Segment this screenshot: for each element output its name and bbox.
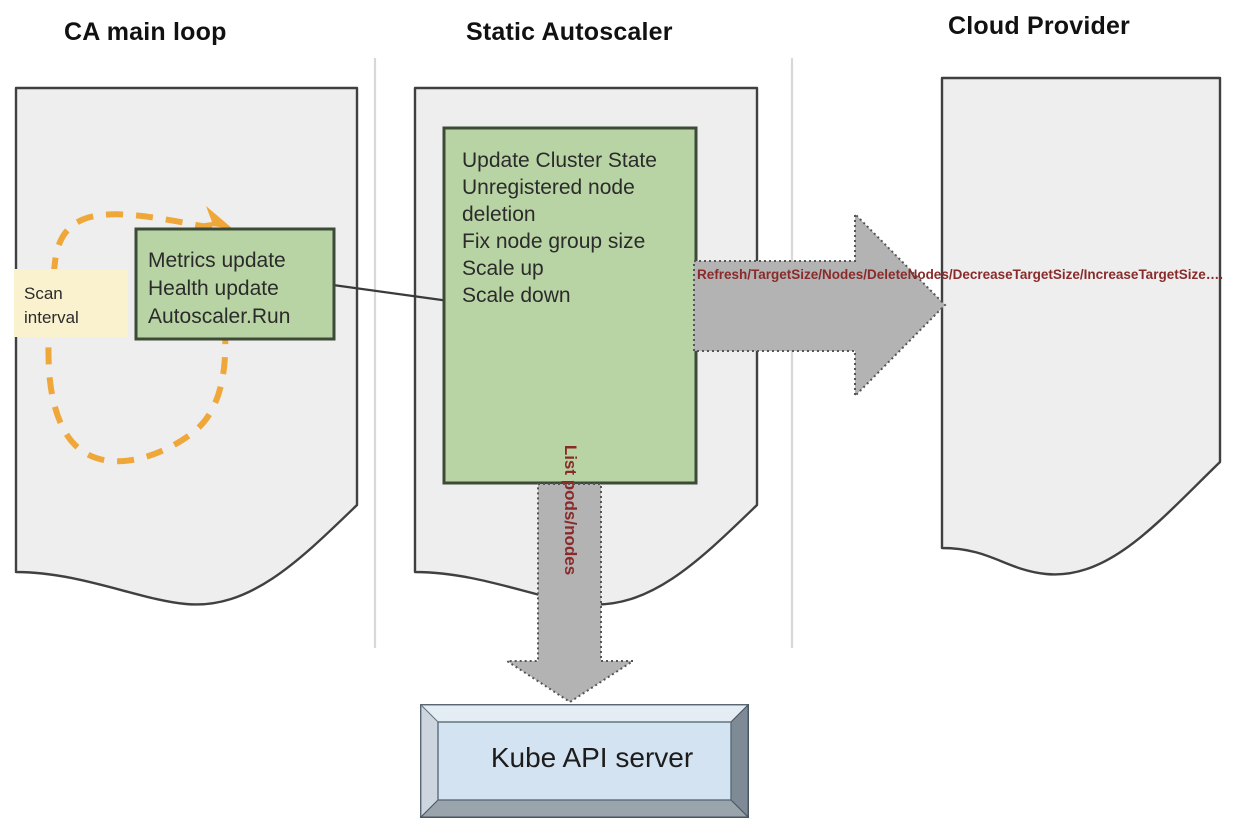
ca-steps-label: Metrics updateHealth updateAutoscaler.Ru… bbox=[148, 247, 338, 331]
cloud-provider-calls-label: Refresh/TargetSize/Nodes/DeleteNodes/Dec… bbox=[697, 266, 899, 284]
diagram-canvas: CA main loop Static Autoscaler Cloud Pro… bbox=[0, 0, 1240, 838]
container-ca-main-loop bbox=[16, 88, 357, 604]
column-title-static-autoscaler: Static Autoscaler bbox=[466, 18, 673, 47]
container-cloud-provider bbox=[942, 78, 1220, 574]
scan-interval-label: Scaninterval bbox=[24, 282, 114, 330]
list-pods-nodes-label: List pods/nodes bbox=[560, 437, 580, 583]
static-autoscaler-steps-label: Update Cluster StateUnregistered nodedel… bbox=[462, 147, 698, 309]
column-title-cloud-provider: Cloud Provider bbox=[948, 12, 1130, 41]
diagram-shapes bbox=[0, 0, 1240, 838]
column-title-ca-main-loop: CA main loop bbox=[64, 18, 227, 47]
kube-api-server-label: Kube API server bbox=[447, 742, 737, 774]
